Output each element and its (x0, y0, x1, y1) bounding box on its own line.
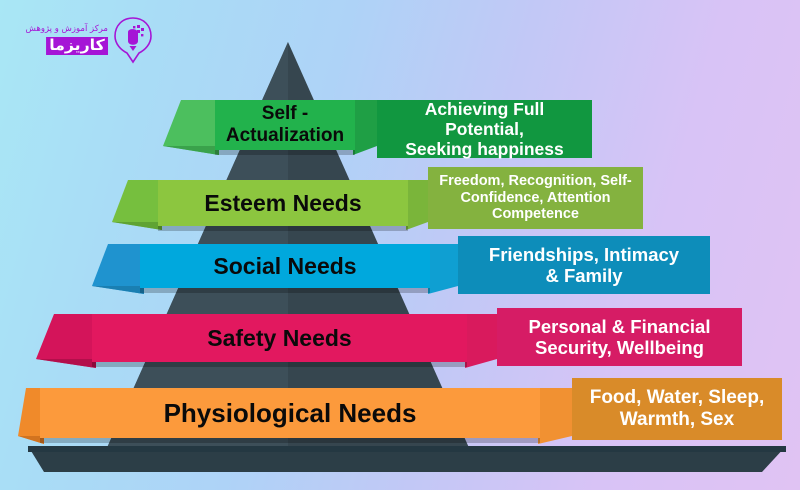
band-label-safety-needs: Safety Needs (197, 325, 361, 352)
pyramid-description-esteem-needs: Freedom, Recognition, Self- Confidence, … (428, 167, 643, 229)
pyramid-description-social-needs: Friendships, Intimacy & Family (458, 236, 710, 294)
logo-tagline: مرکز آموزش و پژوهش (26, 25, 108, 34)
ribbon-right-fold-safety-needs (465, 314, 497, 368)
ribbon-fold-social-needs (92, 244, 144, 294)
pyramid-band-social-needs[interactable]: Social Needs (140, 244, 430, 288)
organization-logo[interactable]: مرکز آموزش و پژوهش کاریزما (16, 14, 156, 66)
logo-pin-icon (112, 16, 154, 64)
pyramid-band-esteem-needs[interactable]: Esteem Needs (158, 180, 408, 226)
band-label-social-needs: Social Needs (203, 253, 366, 280)
ribbon-right-fold-physiological-needs (538, 388, 572, 444)
level-row-physiological-needs: Physiological Needs Food, Water, Sleep, … (40, 388, 782, 440)
pyramid-band-safety-needs[interactable]: Safety Needs (92, 314, 467, 362)
level-row-self-actualization: Self - Actualization Achieving Full Pote… (215, 100, 592, 158)
ribbon-right-fold-esteem-needs (406, 180, 428, 230)
level-row-esteem-needs: Esteem Needs Freedom, Recognition, Self-… (158, 180, 643, 229)
ribbon-right-fold-self-actualization (353, 100, 377, 155)
logo-wordmark: کاریزما (46, 37, 108, 55)
band-label-self-actualization: Self - Actualization (216, 103, 354, 147)
pyramid-band-self-actualization[interactable]: Self - Actualization (215, 100, 355, 150)
level-row-safety-needs: Safety Needs Personal & Financial Securi… (92, 314, 742, 366)
logo-text-block: مرکز آموزش و پژوهش کاریزما (16, 25, 108, 54)
level-row-social-needs: Social Needs Friendships, Intimacy & Fam… (140, 244, 710, 294)
ribbon-fold-self-actualization (163, 100, 219, 155)
pyramid-description-self-actualization: Achieving Full Potential, Seeking happin… (377, 100, 592, 158)
pyramid-band-physiological-needs[interactable]: Physiological Needs (40, 388, 540, 438)
ribbon-right-fold-social-needs (428, 244, 458, 294)
pyramid-description-safety-needs: Personal & Financial Security, Wellbeing (497, 308, 742, 366)
band-label-physiological-needs: Physiological Needs (154, 398, 427, 429)
pyramid-description-physiological-needs: Food, Water, Sleep, Warmth, Sex (572, 378, 782, 440)
ribbon-fold-esteem-needs (112, 180, 162, 230)
band-label-esteem-needs: Esteem Needs (194, 190, 371, 217)
ribbon-fold-safety-needs (36, 314, 96, 368)
maslow-pyramid-infographic: مرکز آموزش و پژوهش کاریزما (0, 0, 800, 490)
